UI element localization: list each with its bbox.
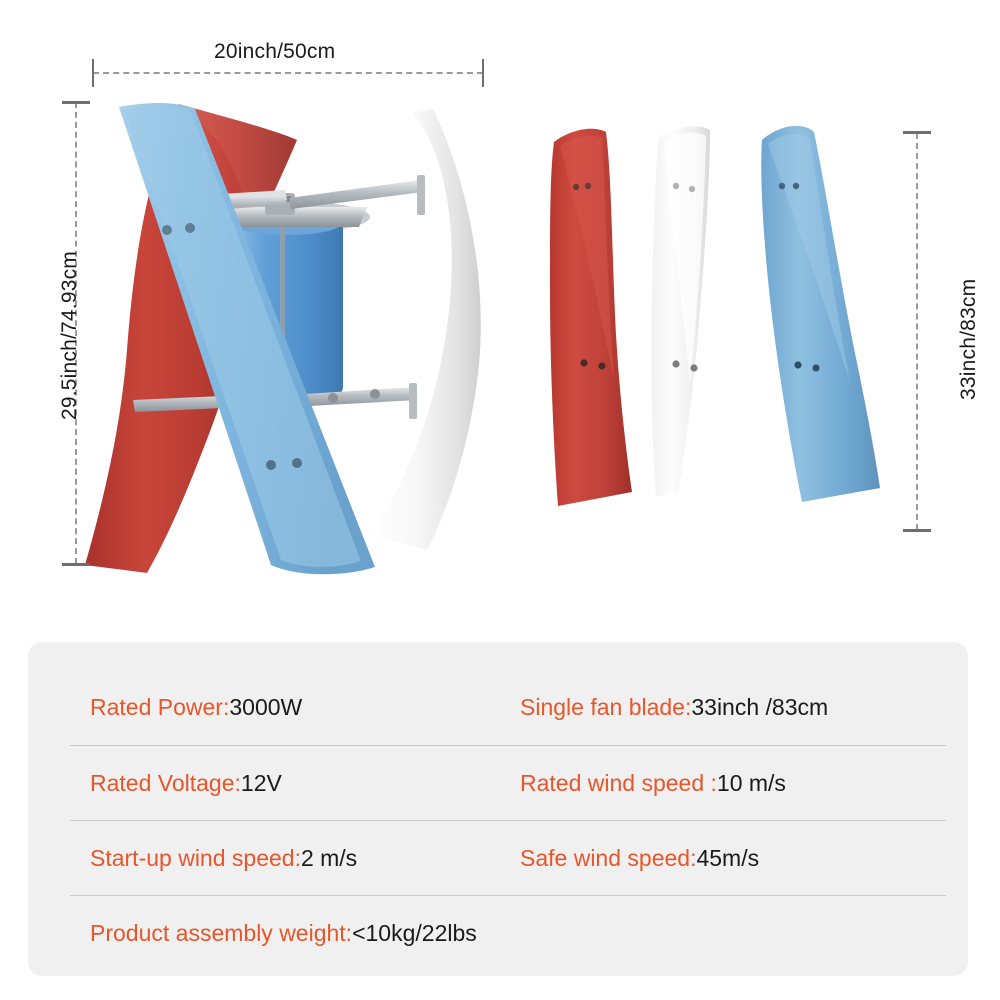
spec-value: <10kg/22lbs xyxy=(352,920,477,947)
spec-cell-rated-wind-speed: Rated wind speed : 10 m/s xyxy=(520,770,946,797)
spec-key: Product assembly weight: xyxy=(90,920,352,947)
spec-row: Rated Power: 3000W Single fan blade: 33i… xyxy=(70,670,946,745)
spec-key: Start-up wind speed: xyxy=(90,845,301,872)
product-photo-area: 20inch/50cm 29.5inch/74.93cm 33inch/83cm xyxy=(0,0,1000,620)
spec-cell-single-fan-blade: Single fan blade: 33inch /83cm xyxy=(520,694,946,721)
assembly-height-tick-bottom xyxy=(62,563,90,566)
loose-blades-group xyxy=(540,120,900,520)
specifications-grid: Rated Power: 3000W Single fan blade: 33i… xyxy=(70,670,946,970)
spec-key: Safe wind speed: xyxy=(520,845,696,872)
blade-white-single xyxy=(651,126,710,496)
blade-length-dimension-line xyxy=(916,133,918,530)
spec-row: Start-up wind speed: 2 m/s Safe wind spe… xyxy=(70,820,946,895)
spec-cell-product-assembly-weight: Product assembly weight: <10kg/22lbs xyxy=(70,920,520,947)
blade-length-tick-bottom xyxy=(903,529,931,532)
spec-value: 12V xyxy=(241,770,282,797)
spec-value: 3000W xyxy=(229,694,302,721)
specifications-panel: Rated Power: 3000W Single fan blade: 33i… xyxy=(28,642,968,976)
spec-key: Rated Power: xyxy=(90,694,229,721)
spec-cell-rated-voltage: Rated Voltage: 12V xyxy=(70,770,520,797)
width-dimension-tick-left xyxy=(92,59,94,87)
blade-red-single xyxy=(550,129,632,506)
spec-cell-safe-wind-speed: Safe wind speed: 45m/s xyxy=(520,845,946,872)
assembly-height-dimension-label: 29.5inch/74.93cm xyxy=(58,251,82,420)
spec-cell-startup-wind-speed: Start-up wind speed: 2 m/s xyxy=(70,845,520,872)
blade-length-dimension-label: 33inch/83cm xyxy=(957,279,981,400)
blade-length-tick-top xyxy=(903,131,931,134)
assembly-height-tick-top xyxy=(62,101,90,104)
spec-value: 2 m/s xyxy=(301,845,357,872)
spec-key: Single fan blade: xyxy=(520,694,691,721)
spec-key: Rated Voltage: xyxy=(90,770,241,797)
turbine-assembly xyxy=(75,95,515,575)
spec-key: Rated wind speed : xyxy=(520,770,717,797)
spec-value: 45m/s xyxy=(696,845,759,872)
spec-row: Product assembly weight: <10kg/22lbs xyxy=(70,895,946,970)
width-dimension-tick-right xyxy=(482,59,484,87)
spec-value: 33inch /83cm xyxy=(691,694,828,721)
blade-white xyxy=(367,109,481,550)
spec-row: Rated Voltage: 12V Rated wind speed : 10… xyxy=(70,745,946,820)
spec-value: 10 m/s xyxy=(717,770,786,797)
blade-blue-single xyxy=(761,126,880,502)
width-dimension-line xyxy=(93,72,483,74)
spec-cell-rated-power: Rated Power: 3000W xyxy=(70,694,520,721)
width-dimension-label: 20inch/50cm xyxy=(214,40,335,64)
